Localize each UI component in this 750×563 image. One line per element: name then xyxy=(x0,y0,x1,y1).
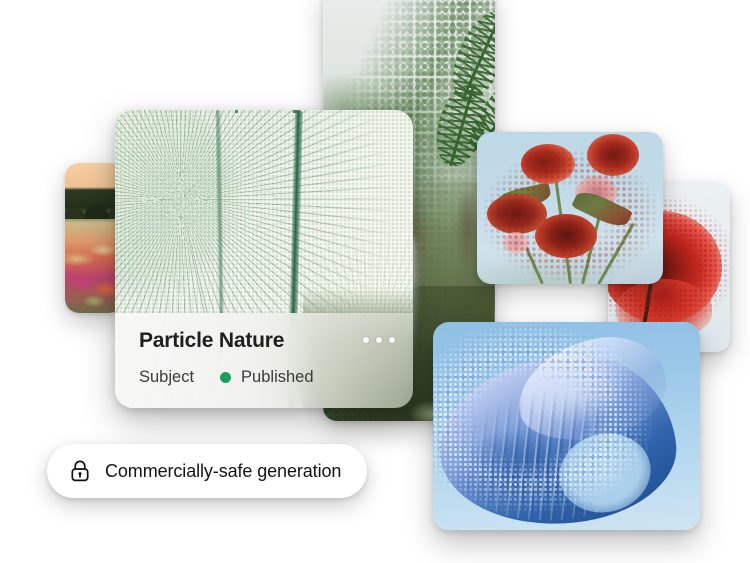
particle-dissolve-overlay xyxy=(477,132,663,284)
fern-frond-icon xyxy=(449,85,475,167)
ellipsis-icon[interactable] xyxy=(363,337,395,343)
poppies-card[interactable] xyxy=(477,132,663,284)
status-label: Published xyxy=(241,368,313,387)
status-badge: Published xyxy=(220,368,313,387)
lock-icon xyxy=(69,459,91,483)
commercially-safe-badge[interactable]: Commercially-safe generation xyxy=(47,444,367,498)
page-title: Particle Nature xyxy=(139,330,284,351)
particle-dissolve-overlay xyxy=(433,322,700,530)
card-type-label: Subject xyxy=(139,368,194,387)
project-card[interactable]: Particle Nature Subject Published xyxy=(115,110,413,408)
card-info-panel: Particle Nature Subject Published xyxy=(115,313,413,408)
card-meta-row: Subject Published xyxy=(139,368,314,387)
composition-stage: Particle Nature Subject Published xyxy=(0,0,750,563)
commercially-safe-label: Commercially-safe generation xyxy=(105,461,341,482)
status-dot-icon xyxy=(220,372,231,383)
wave-card[interactable] xyxy=(433,322,700,530)
